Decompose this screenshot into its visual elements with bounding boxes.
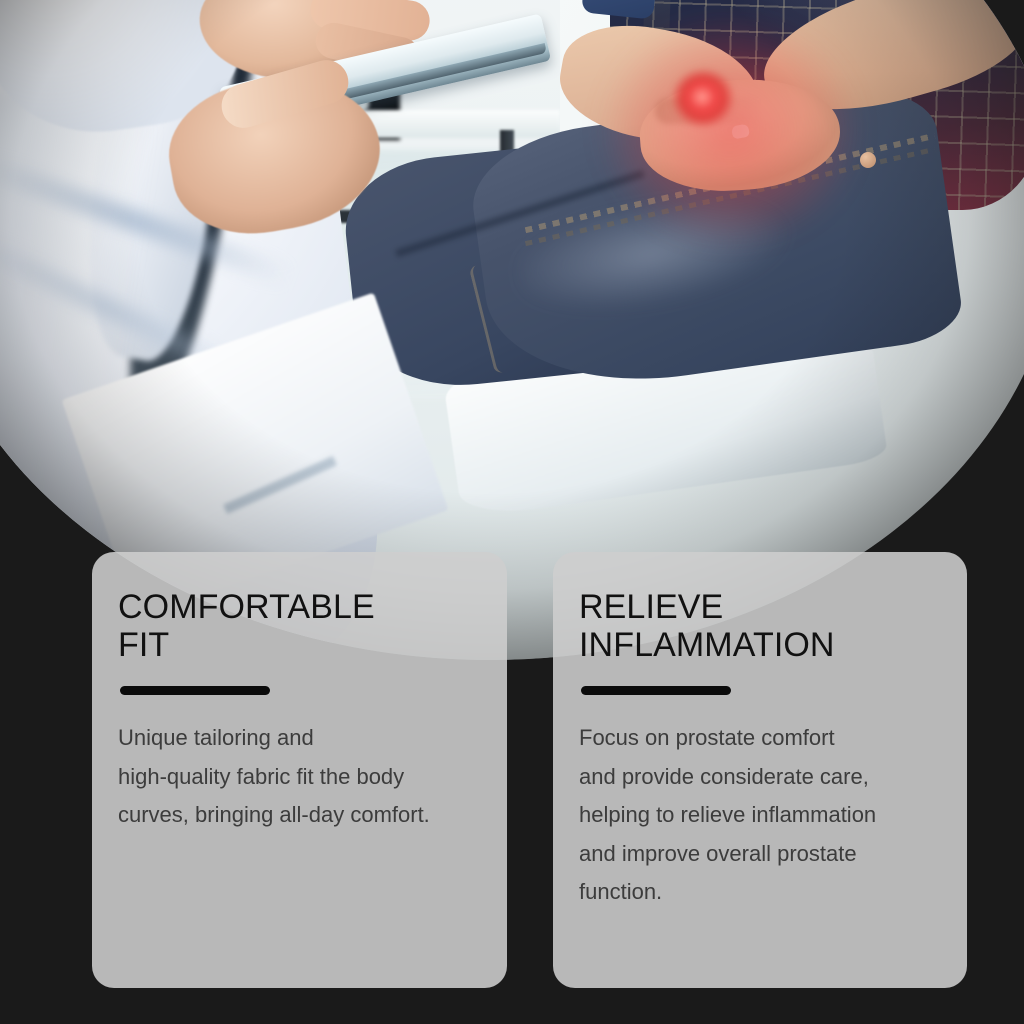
card-body-text: Focus on prostate comfort and provide co… <box>579 719 941 912</box>
card-title: COMFORTABLE FIT <box>118 588 481 664</box>
pain-glow-outer <box>560 0 900 280</box>
card-title: RELIEVE INFLAMMATION <box>579 588 941 664</box>
card-divider-rule <box>120 686 270 695</box>
card-body-text: Unique tailoring and high-quality fabric… <box>118 719 481 835</box>
card-divider-rule <box>581 686 731 695</box>
poster-canvas: COMFORTABLE FIT Unique tailoring and hig… <box>0 0 1024 1024</box>
pain-glow-hotspot <box>680 76 724 118</box>
feature-card-comfortable-fit: COMFORTABLE FIT Unique tailoring and hig… <box>92 552 507 988</box>
feature-card-relieve-inflammation: RELIEVE INFLAMMATION Focus on prostate c… <box>553 552 967 988</box>
